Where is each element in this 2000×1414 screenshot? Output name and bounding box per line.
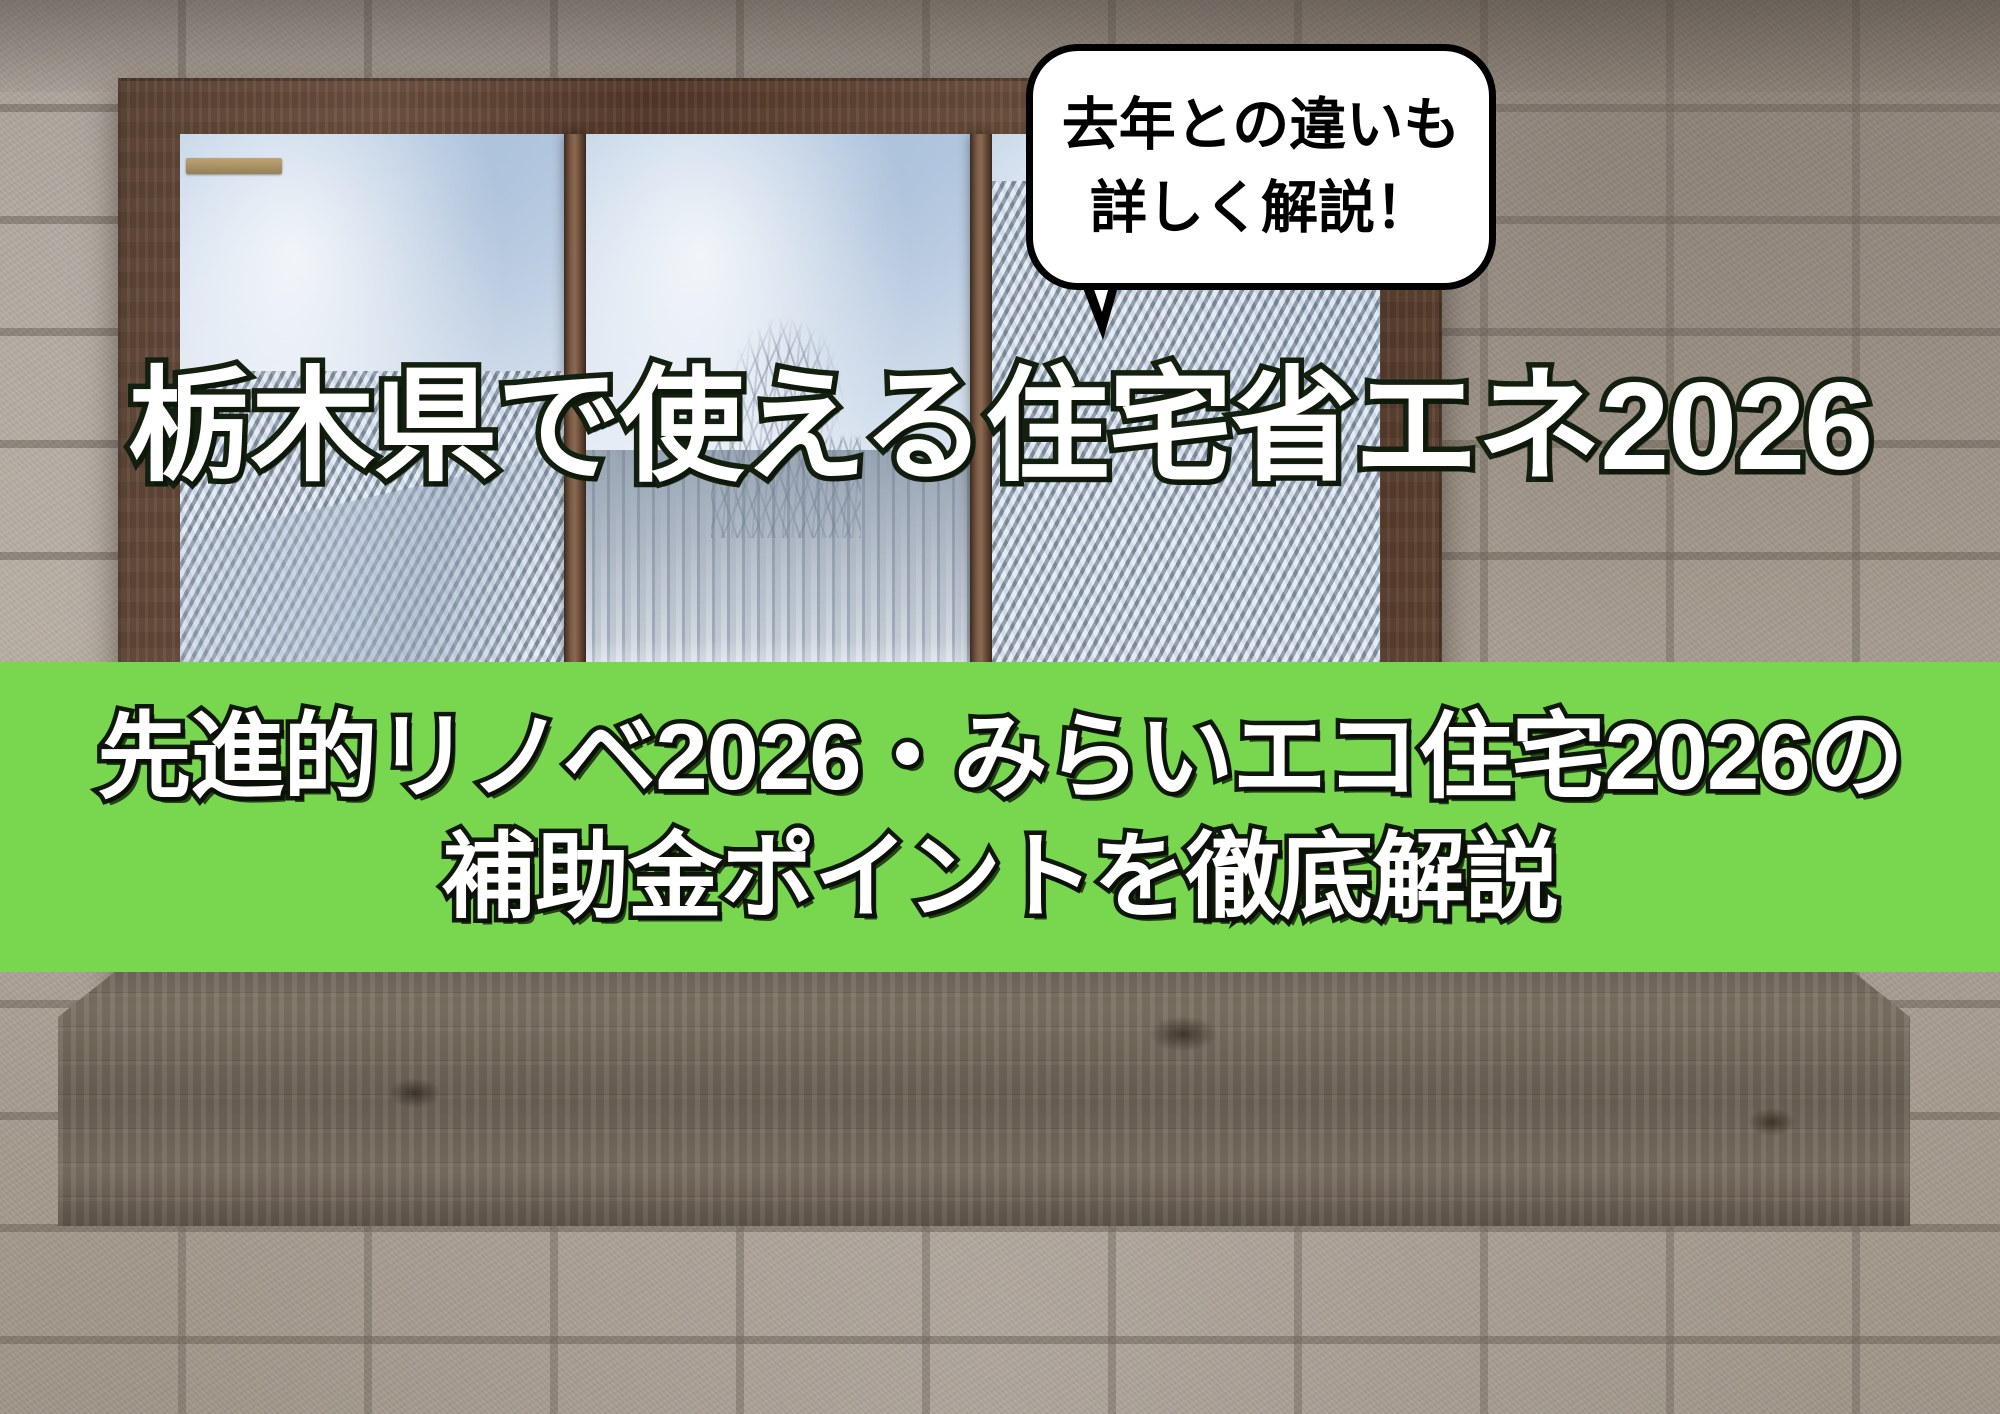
speech-bubble: 去年との違いも 詳しく解説！ bbox=[1026, 44, 1496, 290]
page-title: 栃木県で使える住宅省エネ2026 bbox=[0, 352, 2000, 503]
sill-knot bbox=[1748, 1108, 1796, 1136]
speech-bubble-line-2: 詳しく解説！ bbox=[1090, 167, 1432, 250]
sill-knot bbox=[388, 1078, 442, 1108]
subtitle-band: 先進的リノベ2026・みらいエコ住宅2026の 補助金ポイントを徹底解説 bbox=[0, 662, 2000, 972]
subtitle-line-1: 先進的リノベ2026・みらいエコ住宅2026の bbox=[97, 697, 1902, 817]
sill-knot bbox=[1148, 1016, 1218, 1052]
hinge-top-left bbox=[186, 158, 282, 174]
window-sill bbox=[58, 958, 1910, 1226]
thumbnail-canvas: 栃木県で使える住宅省エネ2026 先進的リノベ2026・みらいエコ住宅2026の… bbox=[0, 0, 2000, 1414]
speech-bubble-line-1: 去年との違いも bbox=[1062, 84, 1460, 167]
subtitle-line-2: 補助金ポイントを徹底解説 bbox=[442, 817, 1558, 937]
